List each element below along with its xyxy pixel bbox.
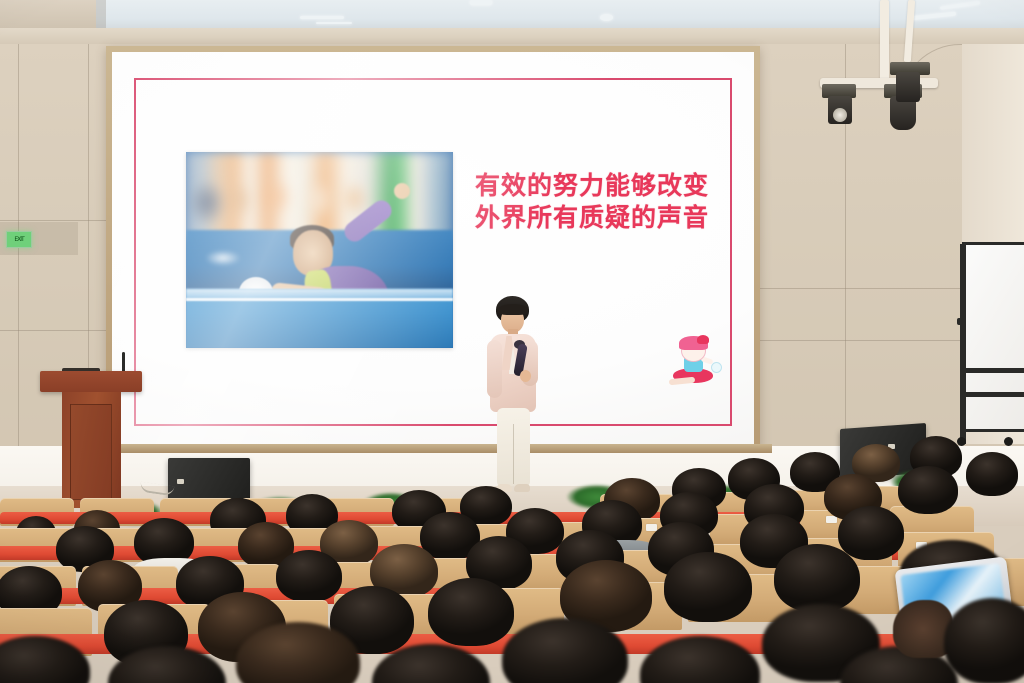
- slide-headline-line-2: 外界所有质疑的声音: [467, 202, 717, 234]
- slide-photo-table-tennis: [186, 152, 453, 348]
- ceiling-light-fixture: [300, 16, 344, 19]
- mascot-hair-bow: [697, 335, 709, 344]
- slide-headline: 有效的努力能够改变 外界所有质疑的声音: [467, 170, 717, 234]
- ceiling-seam: [96, 0, 106, 30]
- speaker-shoe: [514, 484, 530, 492]
- whiteboard-leg: [957, 318, 966, 325]
- audience-head: [774, 544, 860, 612]
- wall-panel-seam: [0, 220, 108, 221]
- whiteboard-leg: [960, 244, 966, 444]
- whiteboard-caster-wheel: [957, 437, 966, 446]
- podium-top: [40, 371, 142, 392]
- wall-panel-seam: [760, 288, 960, 289]
- whiteboard-caster-wheel: [1004, 437, 1013, 446]
- mascot-legs: [669, 377, 695, 386]
- audience-head: [664, 552, 752, 622]
- mobile-whiteboard: [962, 242, 1024, 432]
- speaker-left-arm: [487, 340, 502, 398]
- stage-speaker: [476, 296, 548, 501]
- audience-head: [276, 550, 342, 602]
- auditorium-photograph: EXIT: [0, 0, 1024, 683]
- audience-head: [838, 506, 904, 560]
- speaker-fringe: [498, 304, 528, 315]
- whiteboard-frame-bar: [962, 392, 1024, 397]
- exit-sign-label: EXIT: [14, 236, 23, 243]
- wall-panel-seam: [760, 340, 960, 341]
- speaker-hand: [520, 370, 531, 382]
- speaker-badge: [177, 479, 184, 484]
- cartoon-girl-mascot: [667, 334, 719, 386]
- audience-head-foreground: [944, 598, 1024, 683]
- stage-light-lens: [833, 108, 847, 122]
- seat-number-plate: [646, 524, 657, 531]
- whiteboard-frame-bar: [962, 368, 1024, 373]
- ceiling-light-fixture: [316, 22, 352, 24]
- screen-surface: 有效的努力能够改变 外界所有质疑的声音: [112, 52, 754, 448]
- projection-screen: 有效的努力能够改变 外界所有质疑的声音: [106, 46, 760, 454]
- exit-sign: EXIT: [6, 231, 32, 248]
- ceiling-light-fixture: [470, 0, 492, 5]
- podium-front-panel: [70, 404, 112, 500]
- audience-head: [966, 452, 1018, 496]
- audience-head: [428, 578, 514, 646]
- stage-light-pole: [880, 0, 889, 82]
- mascot-ball-icon: [711, 362, 722, 373]
- screen-bottom-trim: [100, 444, 772, 453]
- ceiling-left-soffit: [0, 0, 96, 28]
- ceiling-light-fixture: [600, 14, 613, 21]
- stage-light-head: [896, 72, 920, 102]
- photo-light-overlay: [186, 152, 453, 348]
- wall-panel-seam: [18, 44, 19, 489]
- speaker-trouser-seam: [513, 424, 514, 484]
- audience-head: [898, 466, 958, 514]
- wall-panel-seam: [0, 330, 108, 331]
- slide-headline-line-1: 有效的努力能够改变: [475, 171, 709, 200]
